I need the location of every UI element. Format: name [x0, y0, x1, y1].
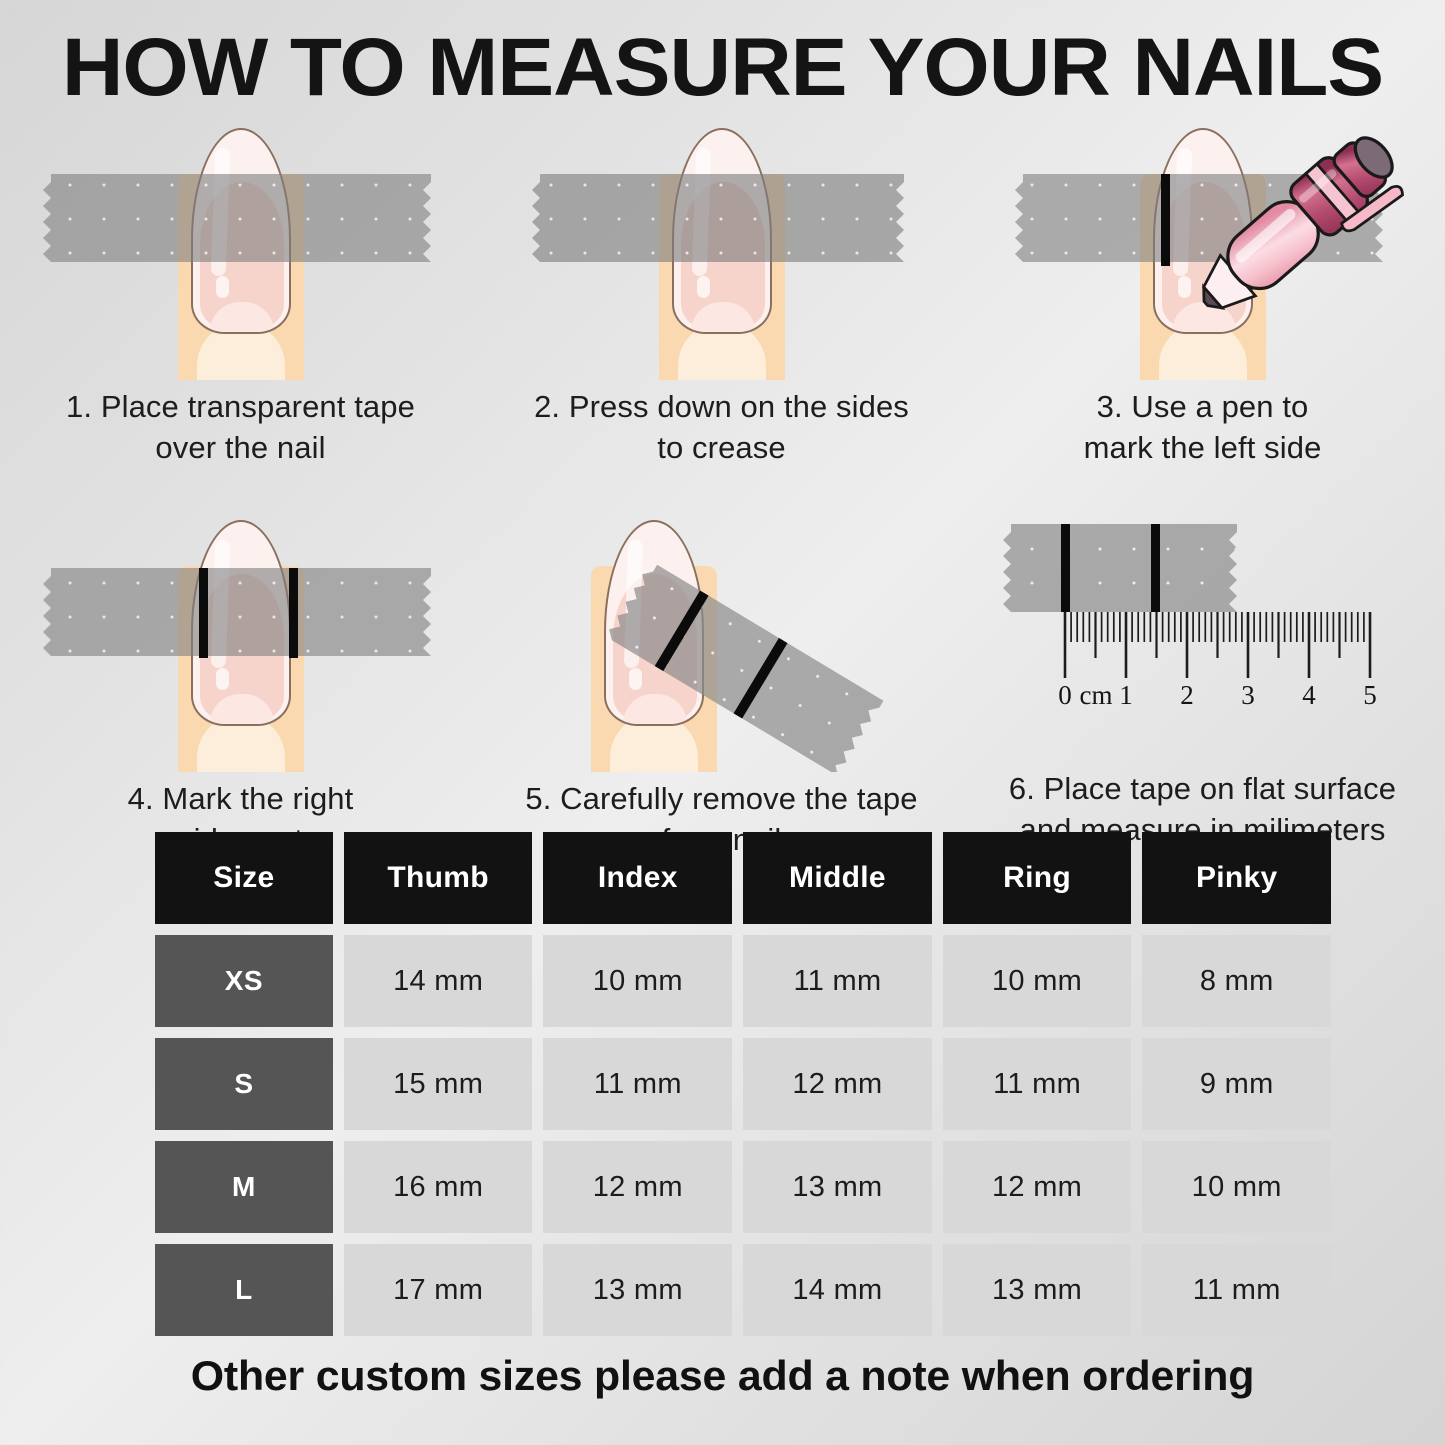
size-table: Size Thumb Index Middle Ring Pinky XS 14… — [155, 832, 1331, 1347]
step-6-illustration: 0 cm 1 2 3 4 5 — [993, 510, 1413, 772]
ruler-label-cm: cm — [1079, 680, 1112, 710]
cell-s-index: 11 mm — [543, 1038, 732, 1130]
steps-section: 1. Place transparent tape over the nail — [0, 112, 1445, 860]
table-row: L 17 mm 13 mm 14 mm 13 mm 11 mm — [155, 1244, 1331, 1336]
tape-strip-4 — [31, 510, 451, 772]
cell-xs-index: 10 mm — [543, 935, 732, 1027]
step-6: 0 cm 1 2 3 4 5 6. Place tape on flat sur… — [962, 510, 1443, 860]
steps-row-top: 1. Place transparent tape over the nail — [0, 112, 1445, 468]
step-4-caption-line1: 4. Mark the right — [26, 778, 456, 819]
step-5-illustration — [512, 510, 932, 772]
table-header-index: Index — [543, 832, 732, 924]
step-5-caption-line1: 5. Carefully remove the tape — [507, 778, 937, 819]
cell-xs-thumb: 14 mm — [344, 935, 533, 1027]
cell-m-thumb: 16 mm — [344, 1141, 533, 1233]
step-3-caption: 3. Use a pen to mark the left side — [988, 386, 1418, 468]
cell-xs-ring: 10 mm — [943, 935, 1132, 1027]
tape-mark-right — [1151, 524, 1160, 612]
ruler-label-4: 4 — [1302, 680, 1316, 710]
ruler-label-3: 3 — [1241, 680, 1255, 710]
size-label-s: S — [155, 1038, 333, 1130]
step-2-caption-line1: 2. Press down on the sides — [507, 386, 937, 427]
cell-l-pinky: 11 mm — [1142, 1244, 1331, 1336]
page-title: HOW TO MEASURE YOUR NAILS — [0, 22, 1445, 114]
size-label-xs: XS — [155, 935, 333, 1027]
cell-m-pinky: 10 mm — [1142, 1141, 1331, 1233]
table-header-pinky: Pinky — [1142, 832, 1331, 924]
step-1-caption: 1. Place transparent tape over the nail — [26, 386, 456, 468]
infographic-page: HOW TO MEASURE YOUR NAILS — [0, 0, 1445, 1445]
table-header-row: Size Thumb Index Middle Ring Pinky — [155, 832, 1331, 924]
ruler-ticks — [1065, 612, 1370, 678]
step-4-illustration — [31, 510, 451, 772]
cell-xs-middle: 11 mm — [743, 935, 932, 1027]
size-label-m: M — [155, 1141, 333, 1233]
cell-s-ring: 11 mm — [943, 1038, 1132, 1130]
pen-icon — [1175, 106, 1415, 346]
table-header-thumb: Thumb — [344, 832, 533, 924]
pen-mark-left — [1161, 174, 1170, 266]
mark-right — [289, 568, 298, 658]
table-row: S 15 mm 11 mm 12 mm 11 mm 9 mm — [155, 1038, 1331, 1130]
step-3: 3. Use a pen to mark the left side — [962, 112, 1443, 468]
step-1-caption-line2: over the nail — [26, 427, 456, 468]
tape-and-ruler: 0 cm 1 2 3 4 5 — [993, 510, 1413, 772]
cell-xs-pinky: 8 mm — [1142, 935, 1331, 1027]
cell-m-middle: 13 mm — [743, 1141, 932, 1233]
tape-strip-2-creased — [512, 112, 932, 380]
tape-strip-1 — [31, 112, 451, 380]
table-row: M 16 mm 12 mm 13 mm 12 mm 10 mm — [155, 1141, 1331, 1233]
size-label-l: L — [155, 1244, 333, 1336]
mark-left — [199, 568, 208, 658]
ruler-label-2: 2 — [1180, 680, 1194, 710]
cell-s-pinky: 9 mm — [1142, 1038, 1331, 1130]
cell-l-ring: 13 mm — [943, 1244, 1132, 1336]
step-3-illustration — [993, 112, 1413, 380]
tape-strip-5-peeling — [512, 510, 932, 772]
step-1: 1. Place transparent tape over the nail — [0, 112, 481, 468]
table-header-middle: Middle — [743, 832, 932, 924]
cell-s-thumb: 15 mm — [344, 1038, 533, 1130]
ruler-label-0: 0 — [1058, 680, 1072, 710]
step-2-illustration — [512, 112, 932, 380]
cell-l-middle: 14 mm — [743, 1244, 932, 1336]
ruler-label-1: 1 — [1119, 680, 1133, 710]
step-2: 2. Press down on the sides to crease — [481, 112, 962, 468]
ruler-label-5: 5 — [1363, 680, 1377, 710]
step-2-caption: 2. Press down on the sides to crease — [507, 386, 937, 468]
step-3-caption-line1: 3. Use a pen to — [988, 386, 1418, 427]
cell-l-thumb: 17 mm — [344, 1244, 533, 1336]
step-3-caption-line2: mark the left side — [988, 427, 1418, 468]
step-6-caption-line1: 6. Place tape on flat surface — [988, 768, 1418, 809]
step-1-caption-line1: 1. Place transparent tape — [26, 386, 456, 427]
footer-note: Other custom sizes please add a note whe… — [0, 1352, 1445, 1400]
table-header-size: Size — [155, 832, 333, 924]
cell-l-index: 13 mm — [543, 1244, 732, 1336]
cell-s-middle: 12 mm — [743, 1038, 932, 1130]
step-1-illustration — [31, 112, 451, 380]
cell-m-index: 12 mm — [543, 1141, 732, 1233]
table-header-ring: Ring — [943, 832, 1132, 924]
steps-row-bottom: 4. Mark the right side next — [0, 510, 1445, 860]
step-4: 4. Mark the right side next — [0, 510, 481, 860]
tape-mark-left — [1061, 524, 1070, 612]
step-2-caption-line2: to crease — [507, 427, 937, 468]
table-row: XS 14 mm 10 mm 11 mm 10 mm 8 mm — [155, 935, 1331, 1027]
step-5: 5. Carefully remove the tape from nail — [481, 510, 962, 860]
cell-m-ring: 12 mm — [943, 1141, 1132, 1233]
ruler-labels: 0 cm 1 2 3 4 5 — [1058, 680, 1377, 710]
